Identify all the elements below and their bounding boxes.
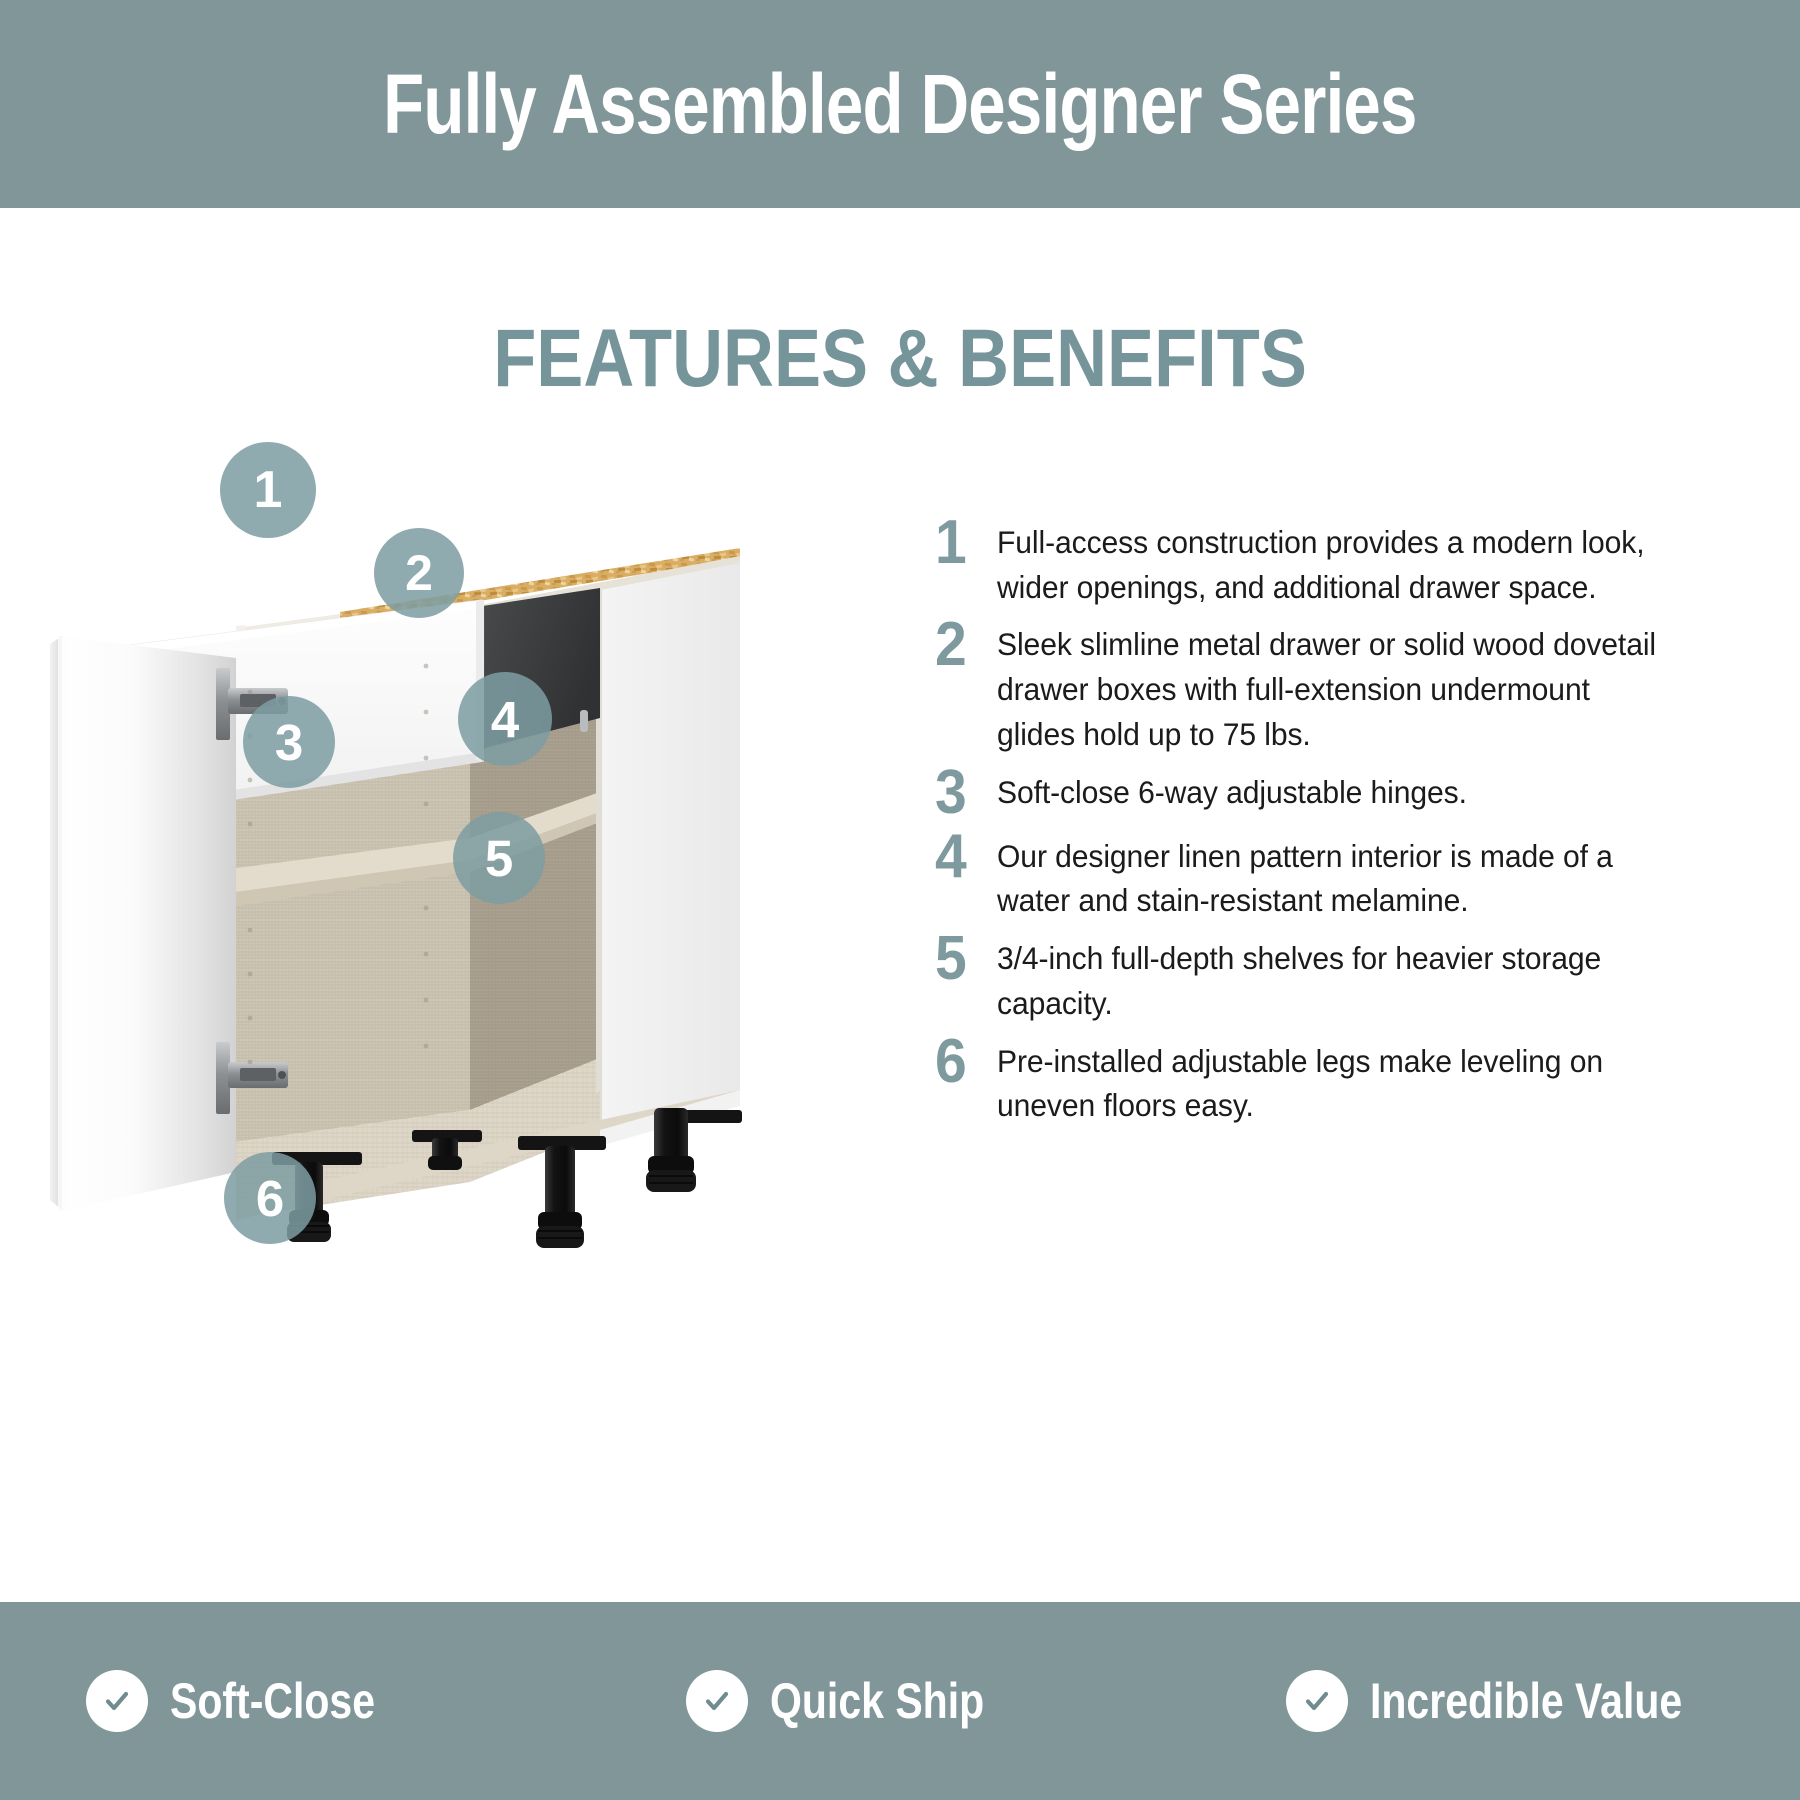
callout-number: 2 <box>405 548 433 598</box>
footer-banner: Soft-Close Quick Ship Incredible Value <box>0 1602 1800 1800</box>
callout-number: 5 <box>485 833 513 884</box>
infographic-page: Fully Assembled Designer Series FEATURES… <box>0 0 1800 1800</box>
callout-number: 4 <box>491 694 519 745</box>
feature-text: 3/4-inch full-depth shelves for heavier … <box>997 936 1664 1025</box>
section-heading: FEATURES & BENEFITS <box>0 318 1800 400</box>
features-list: 1 Full-access construction provides a mo… <box>935 520 1695 1141</box>
callout-badge-4[interactable]: 4 <box>458 672 552 766</box>
callout-badge-2[interactable]: 2 <box>374 528 464 618</box>
product-illustration: 1 2 3 4 5 6 <box>40 430 900 1330</box>
callout-badge-5[interactable]: 5 <box>453 812 545 904</box>
feature-item-4: 4 Our designer linen pattern interior is… <box>935 834 1695 923</box>
feature-number: 3 <box>935 764 992 821</box>
feature-number: 1 <box>935 514 992 571</box>
feature-item-2: 2 Sleek slimline metal drawer or solid w… <box>935 622 1695 756</box>
check-circle-icon <box>1286 1670 1348 1732</box>
callout-number: 1 <box>254 464 283 516</box>
footer-badge-soft-close: Soft-Close <box>0 1670 600 1732</box>
page-title: Fully Assembled Designer Series <box>383 62 1416 146</box>
feature-item-1: 1 Full-access construction provides a mo… <box>935 520 1695 609</box>
callout-number: 3 <box>275 717 303 768</box>
feature-text: Soft-close 6-way adjustable hinges. <box>997 770 1664 815</box>
feature-item-5: 5 3/4-inch full-depth shelves for heavie… <box>935 936 1695 1025</box>
feature-text: Our designer linen pattern interior is m… <box>997 834 1664 923</box>
section-heading-label: FEATURES & BENEFITS <box>493 318 1307 400</box>
callout-number: 6 <box>256 1173 284 1224</box>
callout-badge-3[interactable]: 3 <box>243 696 335 788</box>
feature-number: 5 <box>935 930 992 987</box>
callout-badge-1[interactable]: 1 <box>220 442 316 538</box>
feature-number: 6 <box>935 1033 992 1090</box>
feature-item-6: 6 Pre-installed adjustable legs make lev… <box>935 1039 1695 1128</box>
footer-label: Incredible Value <box>1370 1676 1682 1726</box>
feature-item-3: 3 Soft-close 6-way adjustable hinges. <box>935 770 1695 821</box>
feature-text: Pre-installed adjustable legs make level… <box>997 1039 1664 1128</box>
feature-text: Sleek slimline metal drawer or solid woo… <box>997 622 1664 756</box>
footer-label: Soft-Close <box>170 1676 375 1726</box>
footer-badge-incredible-value: Incredible Value <box>1200 1670 1800 1732</box>
feature-text: Full-access construction provides a mode… <box>997 520 1664 609</box>
open-white-door <box>50 636 236 1212</box>
feature-number: 2 <box>935 616 992 673</box>
check-circle-icon <box>86 1670 148 1732</box>
callout-badge-6[interactable]: 6 <box>224 1152 316 1244</box>
cabinet-right-side <box>596 552 740 1132</box>
footer-label: Quick Ship <box>770 1676 984 1726</box>
feature-number: 4 <box>935 828 992 885</box>
check-circle-icon <box>686 1670 748 1732</box>
footer-badge-quick-ship: Quick Ship <box>600 1670 1200 1732</box>
header-banner: Fully Assembled Designer Series <box>0 0 1800 208</box>
